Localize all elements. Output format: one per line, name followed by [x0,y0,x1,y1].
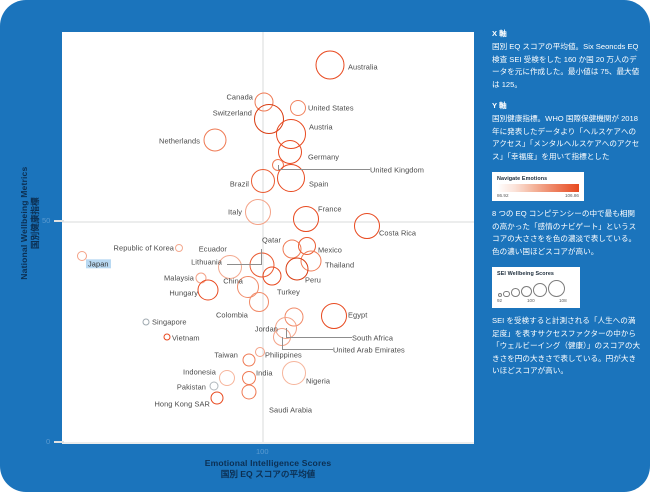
bubble-saudi-arabia[interactable] [242,385,257,400]
country-label-canada: Canada [227,93,254,100]
size-legend-circle-4 [533,283,547,297]
country-label-lithuania: Lithuania [191,258,222,265]
color-legend-card: Navigate Emotions 86.92 106.86 [492,172,584,201]
bubble-vietnam[interactable] [164,334,171,341]
country-label-united-states: United States [308,104,354,111]
country-label-china: China [223,277,243,284]
color-legend-gradient [497,184,579,192]
bubble-singapore[interactable] [143,319,150,326]
country-label-vietnam: Vietnam [172,334,200,341]
bubble-hong-kong-sar[interactable] [211,392,224,405]
country-label-hong-kong-sar: Hong Kong SAR [154,400,210,407]
size-legend-label-92: 92 [497,298,502,303]
bubble-indonesia[interactable] [219,370,235,386]
country-label-peru: Peru [305,276,321,283]
bubble-united-states[interactable] [290,100,306,116]
size-legend-circle-2 [511,288,520,297]
x-axis-title-en: Emotional Intelligence Scores [62,458,474,469]
country-label-australia: Australia [348,63,378,70]
color-legend-max: 106.86 [565,193,579,198]
bubble-turkey[interactable] [263,267,282,286]
country-label-italy: Italy [228,208,242,215]
country-label-united-kingdom: United Kingdom [370,166,424,173]
size-legend-circle-0 [498,293,502,297]
country-label-austria: Austria [309,123,333,130]
country-label-netherlands: Netherlands [159,137,200,144]
country-label-united-arab-emirates: United Arab Emirates [333,346,405,353]
country-label-colombia: Colombia [216,311,248,318]
y-tick-0: 0 [46,437,50,446]
bubble-republic-of-korea[interactable] [175,244,183,252]
bubble-nigeria[interactable] [282,361,306,385]
bubble-egypt[interactable] [321,303,347,329]
x-axis-note-heading: X 軸 [492,28,642,39]
bubble-spain[interactable] [277,164,305,192]
country-label-malaysia: Malaysia [164,274,194,281]
size-legend-card: SEI Wellbeing Scores 92 100 108 [492,267,580,308]
y-tick-mark-50 [54,220,64,222]
country-label-ecuador: Ecuador [199,245,227,252]
country-label-republic-of-korea: Republic of Korea [114,244,174,251]
bubble-italy[interactable] [245,199,271,225]
country-label-philippines: Philippines [265,351,302,358]
country-label-germany: Germany [308,153,339,160]
size-legend-title: SEI Wellbeing Scores [497,271,575,277]
y-axis-title-en: National Wellbeing Metrics [19,43,30,403]
bubble-netherlands[interactable] [204,129,227,152]
country-label-pakistan: Pakistan [177,383,206,390]
country-label-mexico: Mexico [318,246,342,253]
country-label-brazil: Brazil [230,180,249,187]
country-label-switzerland: Switzerland [213,109,252,116]
bubble-philippines[interactable] [255,347,265,357]
y-axis-note-heading: Y 軸 [492,100,642,111]
country-label-spain: Spain [309,180,328,187]
x-axis-note-body: 国別 EQ スコアの平均値。Six Seoncds EQ 検査 SEI 受検をし… [492,41,642,91]
country-label-hungary: Hungary [169,289,198,296]
country-label-japan: Japan [86,259,111,268]
bubble-france[interactable] [293,206,319,232]
color-legend-scale: 86.92 106.86 [497,193,579,198]
country-label-taiwan: Taiwan [214,351,238,358]
y-tick-mark-0 [54,441,64,443]
bubble-pakistan[interactable] [210,382,219,391]
bubble-costa-rica[interactable] [354,213,380,239]
size-legend-label-100: 100 [527,298,535,303]
country-label-south-africa: South Africa [352,334,393,341]
infographic-root: AustraliaCanadaUnited StatesSwitzerlandA… [0,0,650,492]
country-label-thailand: Thailand [325,261,354,268]
size-legend-circle-5 [548,280,565,297]
x-tick-100: 100 [256,447,269,456]
y-tick-50: 50 [42,216,50,225]
country-label-turkey: Turkey [277,288,300,295]
color-legend-title: Navigate Emotions [497,176,579,182]
country-label-costa-rica: Costa Rica [379,229,416,236]
size-legend-circle-1 [503,291,509,297]
country-label-indonesia: Indonesia [183,368,216,375]
x-axis-title: Emotional Intelligence Scores 国別 EQ スコアの… [62,458,474,479]
y-axis-note-body: 国別健康指標。WHO 国際保健機関が 2018 年に発表したデータより「ヘルスケ… [492,113,642,163]
country-label-singapore: Singapore [152,318,187,325]
color-legend-caption: 8 つの EQ コンピテンシーの中で最も相関の高かった「感情のナビゲート」という… [492,208,642,258]
scatter-plot-panel: AustraliaCanadaUnited StatesSwitzerlandA… [62,32,474,444]
gridline-y-50 [62,221,474,223]
sidebar: X 軸 国別 EQ スコアの平均値。Six Seoncds EQ 検査 SEI … [492,28,642,387]
color-legend-min: 86.92 [497,193,509,198]
bubble-australia[interactable] [316,51,345,80]
y-axis-title-jp: 国別健康指標 [30,43,41,403]
country-label-saudi-arabia: Saudi Arabia [269,406,312,413]
size-legend-circle-3 [521,286,532,297]
country-label-egypt: Egypt [348,311,367,318]
gridline-y-0 [62,442,474,444]
country-label-india: India [256,369,273,376]
country-label-qatar: Qatar [262,236,281,243]
bubble-hungary[interactable] [198,280,219,301]
bubble-brazil[interactable] [251,169,275,193]
country-label-france: France [318,205,342,212]
country-label-nigeria: Nigeria [306,377,330,384]
y-axis-title: National Wellbeing Metrics 国別健康指標 [19,43,41,403]
size-legend-caption: SEI を受検すると計測される「人生への満足度」を表すサクセスファクターの中から… [492,315,642,378]
size-legend-circles [497,279,575,297]
bubble-india[interactable] [242,371,256,385]
bubble-taiwan[interactable] [243,354,256,367]
bubble-colombia[interactable] [249,292,269,312]
x-axis-title-jp: 国別 EQ スコアの平均値 [62,469,474,480]
size-legend-scale: 92 100 108 [497,298,575,305]
size-legend-label-108: 108 [559,298,567,303]
country-label-jordan: Jordan [255,325,278,332]
